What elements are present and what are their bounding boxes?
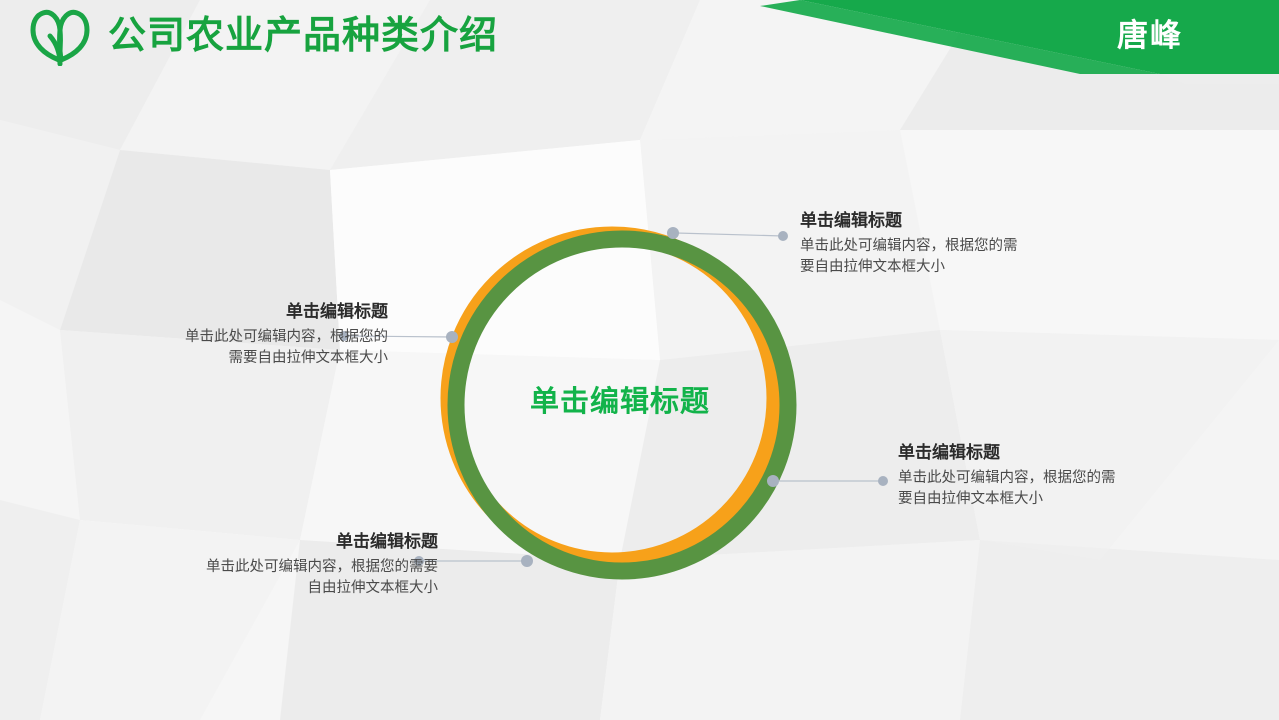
callout-body: 单击此处可编辑内容，根据您的需 要自由拉伸文本框大小	[800, 236, 1100, 278]
connector-dot-ring-1	[667, 227, 679, 239]
callout-top-right[interactable]: 单击编辑标题 单击此处可编辑内容，根据您的需 要自由拉伸文本框大小	[800, 209, 1100, 278]
connector-dot-end-3	[878, 476, 888, 486]
callout-title: 单击编辑标题	[898, 441, 1198, 465]
connector-dot-ring-3	[767, 475, 779, 487]
callout-body-line: 单击此处可编辑内容，根据您的需要	[138, 557, 438, 578]
callout-body-line: 要自由拉伸文本框大小	[898, 489, 1198, 510]
callout-bottom-right[interactable]: 单击编辑标题 单击此处可编辑内容，根据您的需 要自由拉伸文本框大小	[898, 441, 1198, 510]
callout-left[interactable]: 单击编辑标题 单击此处可编辑内容，根据您的 需要自由拉伸文本框大小	[88, 300, 388, 369]
callout-title: 单击编辑标题	[88, 300, 388, 324]
callout-bottom-left[interactable]: 单击编辑标题 单击此处可编辑内容，根据您的需要 自由拉伸文本框大小	[138, 530, 438, 599]
connector-dot-ring-2	[446, 331, 458, 343]
callout-body-line: 要自由拉伸文本框大小	[800, 257, 1100, 278]
callout-body-line: 单击此处可编辑内容，根据您的需	[800, 236, 1100, 257]
slide-canvas: 公司农业产品种类介绍 唐峰 单击编辑标题 单击编辑标题 单击此处可编辑内容，根	[0, 0, 1279, 720]
callout-body: 单击此处可编辑内容，根据您的 需要自由拉伸文本框大小	[88, 327, 388, 369]
callout-body-line: 单击此处可编辑内容，根据您的	[88, 327, 388, 348]
connector-dot-end-1	[778, 231, 788, 241]
callout-body-line: 单击此处可编辑内容，根据您的需	[898, 468, 1198, 489]
callout-title: 单击编辑标题	[138, 530, 438, 554]
callout-body: 单击此处可编辑内容，根据您的需 要自由拉伸文本框大小	[898, 468, 1198, 510]
callout-body-line: 需要自由拉伸文本框大小	[88, 348, 388, 369]
callout-body: 单击此处可编辑内容，根据您的需要 自由拉伸文本框大小	[138, 557, 438, 599]
callout-body-line: 自由拉伸文本框大小	[138, 578, 438, 599]
callout-title: 单击编辑标题	[800, 209, 1100, 233]
connector-dot-ring-4	[521, 555, 533, 567]
